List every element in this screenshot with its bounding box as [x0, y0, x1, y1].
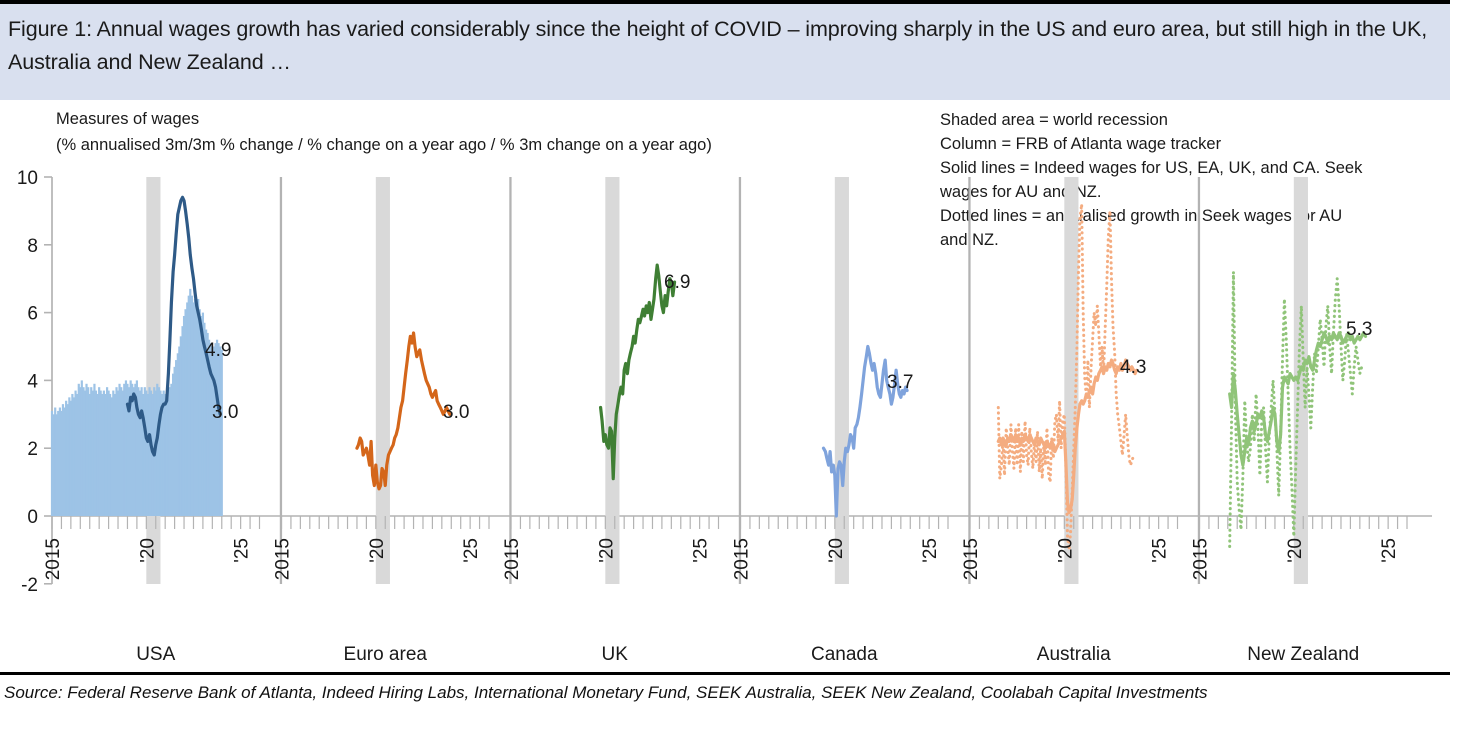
- x-tick-label: '25: [461, 538, 482, 563]
- figure-page: Figure 1: Annual wages growth has varied…: [0, 0, 1457, 749]
- panel-label: New Zealand: [1247, 644, 1359, 665]
- panel-label: Canada: [811, 644, 878, 665]
- panel-euro-area: 3.02015'20'25Euro area: [273, 177, 490, 665]
- legend-line-1: Column = FRB of Atlanta wage tracker: [940, 135, 1222, 153]
- x-tick-label: 2015: [502, 538, 523, 580]
- chart-subtitle-line2: (% annualised 3m/3m % change / % change …: [56, 136, 712, 154]
- y-tick-label: 2: [27, 439, 38, 460]
- panel-label: Euro area: [344, 644, 428, 665]
- end-value-label: 3.0: [212, 402, 238, 423]
- x-tick-label: '20: [826, 538, 847, 563]
- recession-band: [835, 177, 849, 584]
- x-tick-label: '20: [367, 538, 388, 563]
- source-note: Source: Federal Reserve Bank of Atlanta,…: [4, 680, 1449, 706]
- x-tick-label: '20: [1285, 538, 1306, 563]
- x-tick-label: 2015: [273, 538, 294, 580]
- y-tick-label: 0: [27, 507, 38, 528]
- panel-canada: 3.72015'20'25Canada: [732, 177, 949, 665]
- recession-band: [376, 177, 390, 584]
- chart-container: Measures of wages(% annualised 3m/3m % c…: [0, 104, 1457, 670]
- recession-band: [605, 177, 619, 584]
- panel-uk: 6.92015'20'25UK: [502, 177, 719, 665]
- panel-label: Australia: [1037, 644, 1111, 665]
- panel-australia: 4.32015'20'25Australia: [961, 177, 1178, 665]
- legend-line-2: Solid lines = Indeed wages for US, EA, U…: [940, 159, 1363, 177]
- column-bar: [221, 350, 223, 516]
- series-line-solid: [357, 333, 450, 489]
- x-tick-label: '25: [232, 538, 253, 563]
- end-value-label: 3.7: [887, 372, 913, 393]
- end-value-label: 6.9: [664, 272, 690, 293]
- legend-line-4: Dotted lines = annualised growth in Seek…: [940, 207, 1342, 225]
- legend-line-0: Shaded area = world recession: [940, 111, 1168, 129]
- x-tick-label: 2015: [732, 538, 753, 580]
- end-value-label: 3.0: [443, 402, 469, 423]
- x-tick-label: '20: [596, 538, 617, 563]
- page-title: Figure 1: Annual wages growth has varied…: [8, 13, 1440, 79]
- x-tick-label: 2015: [43, 538, 64, 580]
- y-tick-label: -2: [21, 575, 38, 596]
- figure-title-band: Figure 1: Annual wages growth has varied…: [0, 0, 1450, 100]
- recession-band: [146, 177, 160, 584]
- panel-usa: 4.93.02015'20'25USA: [43, 177, 260, 665]
- y-tick-label: 4: [27, 371, 38, 392]
- y-tick-label: 8: [27, 236, 38, 257]
- source-divider: [0, 672, 1450, 675]
- y-tick-label: 10: [17, 168, 38, 189]
- x-tick-label: '25: [691, 538, 712, 563]
- x-tick-label: '25: [920, 538, 941, 563]
- x-tick-label: '20: [1055, 538, 1076, 563]
- end-value-label: 4.9: [205, 340, 231, 361]
- x-tick-label: 2015: [1191, 538, 1212, 580]
- panel-label: USA: [136, 644, 175, 665]
- y-tick-label: 6: [27, 304, 38, 325]
- x-tick-label: 2015: [961, 538, 982, 580]
- panel-label: UK: [602, 644, 629, 665]
- x-tick-label: '20: [137, 538, 158, 563]
- panel-new-zealand: 5.32015'20'25New Zealand: [1191, 177, 1408, 665]
- end-value-label: 4.3: [1120, 357, 1146, 378]
- x-tick-label: '25: [1379, 538, 1400, 563]
- end-value-label: 5.3: [1346, 319, 1372, 340]
- wages-growth-chart: Measures of wages(% annualised 3m/3m % c…: [0, 104, 1457, 670]
- chart-subtitle-line1: Measures of wages: [56, 110, 199, 128]
- x-tick-label: '25: [1150, 538, 1171, 563]
